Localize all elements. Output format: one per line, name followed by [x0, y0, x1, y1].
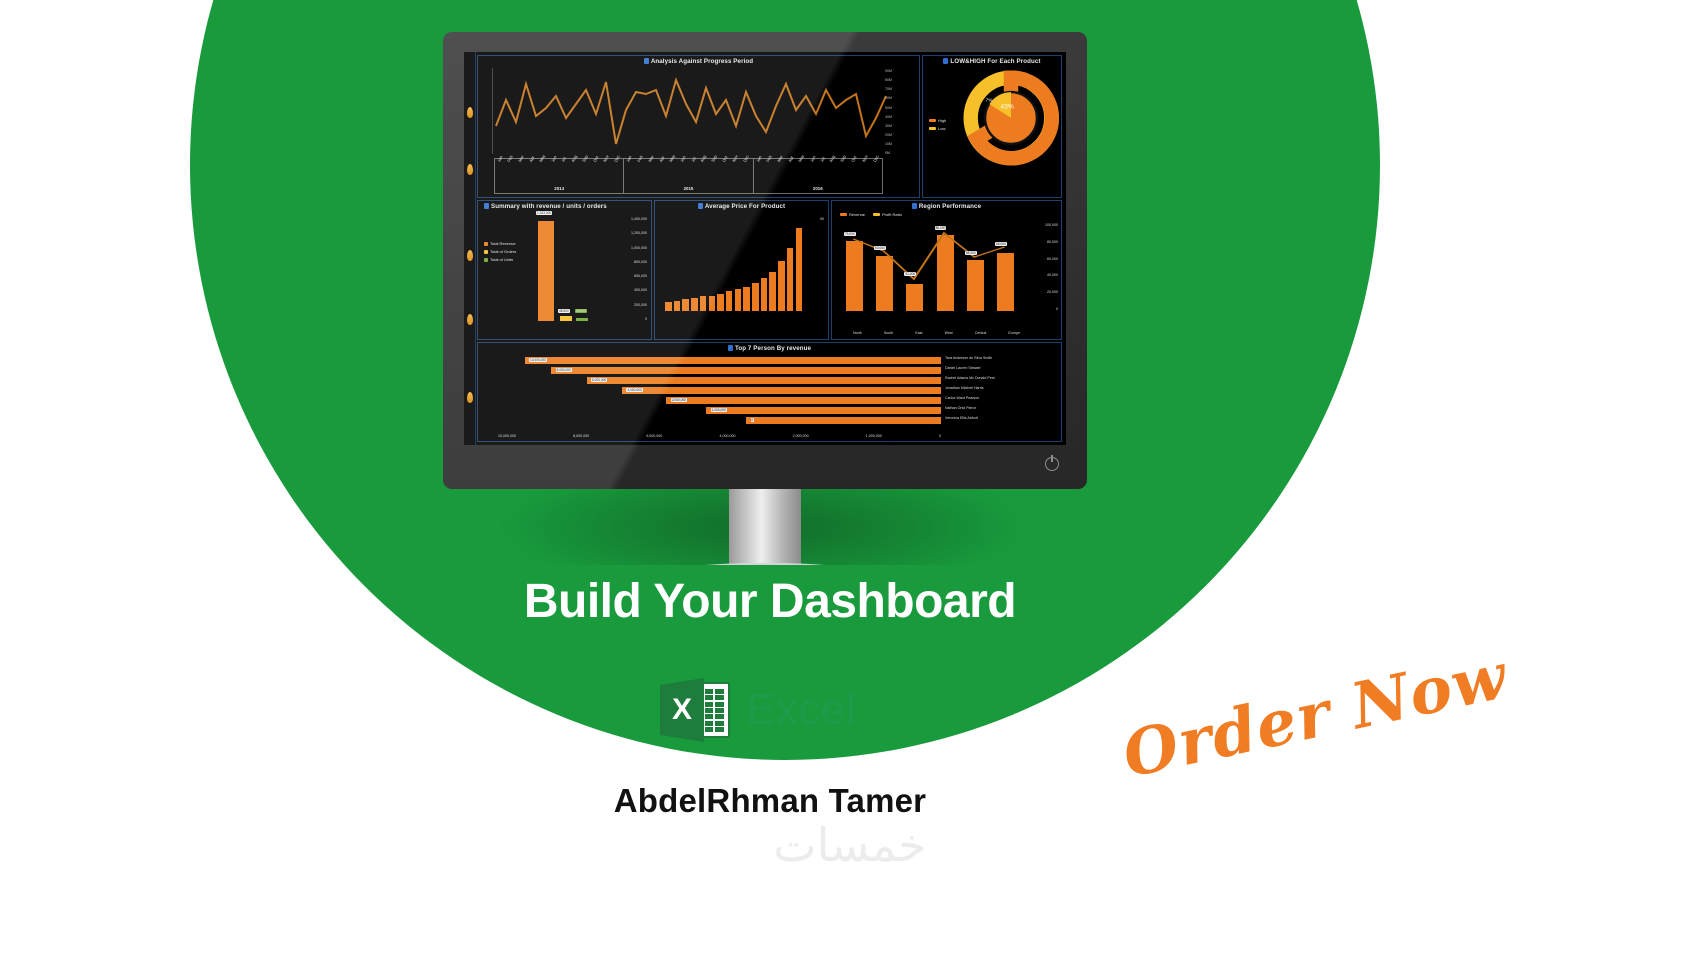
panel-top7-title-row: Top 7 Person By revenue — [478, 343, 1061, 352]
region-bars: 79,000 63,000 31,000 86,000 58,000 66,00… — [842, 223, 1031, 311]
summary-icon — [484, 203, 489, 209]
top7-bar-value: 8,000,000 — [556, 368, 572, 372]
watermark-text: خمسات — [773, 818, 926, 872]
monitor-neck — [729, 489, 801, 567]
xtick: Jan — [626, 155, 633, 163]
region-xtick: West — [945, 331, 953, 335]
panel-donut-title: LOW&HIGH For Each Product — [950, 58, 1040, 65]
legend-swatch-revenue — [840, 213, 847, 216]
top7-name: Daniel Lauren Stewart — [945, 366, 1057, 376]
legend-item: Revenue — [840, 212, 865, 217]
trend-x-ticks: Jan Feb Mar Apr May Jun Jul Aug Sep Oct … — [754, 161, 882, 181]
trend-y-ticks: 90M 80M 70M 60M 50M 40M 30M 20M 10M 0M — [885, 70, 915, 156]
panel-region-performance[interactable]: Region Performance Revenue Profit Ratio … — [831, 200, 1062, 340]
legend-item: Total Revenue — [484, 241, 516, 246]
order-now-cta[interactable]: Order Now — [1118, 622, 1513, 809]
xtick: Sep — [582, 155, 589, 163]
region-icon — [912, 203, 917, 209]
summary-bar-value: 19,000 — [575, 309, 587, 313]
top7-bar-value: 2,000,000 — [671, 398, 687, 402]
avg-bar — [726, 291, 733, 311]
avg-bar — [709, 296, 716, 311]
slicer-handle-3[interactable] — [467, 250, 473, 261]
trend-x-axis: Jan Feb Mar Apr May Jun Jul Aug Sep Oct … — [494, 158, 883, 194]
panel-summary-title: Summary with revenue / units / orders — [491, 203, 607, 210]
region-ytick: 0 — [1056, 307, 1058, 311]
xtick: Oct — [851, 155, 857, 162]
xtick: Jul — [820, 156, 826, 162]
trend-ytick: 80M — [885, 79, 892, 83]
summary-bar-revenue — [538, 221, 554, 321]
region-bar-value: 58,000 — [965, 251, 977, 255]
summary-ytick: 400,000 — [634, 288, 647, 292]
avg-bar — [778, 261, 785, 311]
trend-x-group-label: 2015 — [624, 186, 752, 191]
trend-line-series — [494, 70, 894, 154]
trend-x-group: Jan Feb Mar Apr May Jun Jul Aug Sep Oct … — [495, 159, 624, 193]
legend-item: Profit Ratio — [873, 212, 902, 217]
top7-bar — [666, 397, 941, 404]
top7-names: Tara Anderson de Silva Smith Daniel Laur… — [945, 356, 1057, 426]
avg-bar — [691, 298, 698, 311]
region-bar-value: 66,000 — [995, 242, 1007, 246]
donut-chart-icon — [943, 58, 948, 64]
summary-legend: Total Revenue Total of Orders Total of U… — [484, 241, 516, 265]
svg-text:7%: 7% — [985, 98, 993, 104]
avg-bar — [735, 289, 742, 311]
dashboard-screen: Analysis Against Progress Period 90M 80M… — [464, 52, 1066, 445]
power-icon[interactable] — [1045, 457, 1059, 471]
trend-x-ticks: Jan Feb Mar Apr May Jun Jul Aug Sep Oct … — [624, 161, 752, 181]
top7-x-axis: 10,000,000 8,000,000 6,000,000 4,000,000… — [498, 434, 941, 438]
avg-bar — [682, 299, 689, 311]
avg-y-max: 90 — [820, 217, 824, 221]
xtick: Apr — [659, 155, 665, 162]
bar-chart-icon — [698, 203, 703, 209]
xtick: Nov — [603, 155, 610, 163]
legend-item: Total of Units — [484, 257, 516, 262]
region-legend: Revenue Profit Ratio — [840, 212, 902, 217]
region-ytick: 20,000 — [1047, 290, 1058, 294]
summary-ytick: 0 — [645, 317, 647, 321]
summary-bars: 1,333,000 48,500 19,000 — [538, 217, 598, 321]
xtick: Mar — [648, 155, 655, 163]
headline-text: Build Your Dashboard — [524, 574, 1016, 629]
summary-ytick: 600,000 — [634, 274, 647, 278]
region-bar-value: 79,000 — [844, 232, 856, 236]
region-ytick: 40,000 — [1047, 273, 1058, 277]
xtick: Jul — [691, 156, 697, 162]
xtick: Aug — [571, 155, 578, 163]
summary-ytick: 800,000 — [634, 260, 647, 264]
legend-swatch-orders — [484, 250, 488, 254]
slicer-handle-5[interactable] — [467, 392, 473, 403]
legend-swatch-low — [929, 127, 936, 130]
summary-y-ticks: 1,400,000 1,200,000 1,000,000 800,000 60… — [631, 217, 647, 321]
top7-bar-value: 1,000,000 — [711, 408, 727, 412]
top7-name: Nathan Ortiz Pierce — [945, 406, 1057, 416]
region-xtick: South — [884, 331, 893, 335]
xtick: Jun — [680, 155, 687, 163]
xtick: Mar — [777, 155, 784, 163]
top7-xtick: 1,000,000 — [866, 434, 882, 438]
legend-label: Profit Ratio — [882, 212, 902, 217]
khamsat-watermark: خمسات — [0, 818, 1700, 872]
xtick: Apr — [529, 155, 535, 162]
summary-bar-value: 48,500 — [558, 309, 570, 313]
avg-bar — [796, 228, 803, 311]
trend-x-group-label: 2014 — [495, 186, 623, 191]
avg-bars — [665, 225, 810, 311]
xtick: Sep — [840, 155, 847, 163]
panel-avg-title: Average Price For Product — [705, 203, 785, 210]
panel-region-title-row: Region Performance — [832, 201, 1061, 210]
xtick: May — [798, 154, 805, 163]
legend-item: High — [929, 118, 946, 123]
legend-label: High — [938, 118, 946, 123]
region-xtick: North — [853, 331, 862, 335]
panel-trend[interactable]: Analysis Against Progress Period 90M 80M… — [477, 55, 920, 198]
trend-ytick: 20M — [885, 134, 892, 138]
top7-bars: 10,000,000 8,000,000 6,000,000 4,000,000… — [498, 357, 941, 427]
xtick: Apr — [788, 155, 794, 162]
legend-item: Total of Orders — [484, 249, 516, 254]
xtick: Jan — [497, 155, 504, 163]
xtick: May — [539, 154, 546, 163]
top7-bar — [622, 387, 941, 394]
panel-low-high[interactable]: LOW&HIGH For Each Product 43% 7% High — [922, 55, 1062, 198]
headline-banner: Build Your Dashboard — [470, 565, 1070, 637]
region-ytick: 60,000 — [1047, 257, 1058, 261]
legend-label: Low — [938, 126, 945, 131]
top7-xtick: 4,000,000 — [719, 434, 735, 438]
legend-swatch-revenue — [484, 242, 488, 246]
xtick: Mar — [518, 155, 525, 163]
summary-ytick: 1,000,000 — [631, 246, 647, 250]
xtick: Feb — [507, 155, 514, 163]
top7-xtick: 0 — [939, 434, 941, 438]
top7-bar-value: 4,000,000 — [626, 388, 642, 392]
xtick: Aug — [700, 155, 707, 163]
monitor-chin — [464, 450, 1066, 476]
legend-swatch-profit — [873, 213, 880, 216]
top7-name: Carlos Ward Pearson — [945, 396, 1057, 406]
top7-name: Tara Anderson de Silva Smith — [945, 356, 1057, 366]
top7-xtick: 2,000,000 — [793, 434, 809, 438]
top7-bar — [525, 357, 941, 364]
trend-x-group-label: 2016 — [754, 186, 882, 191]
excel-logo-letter: X — [672, 693, 692, 727]
panel-trend-title: Analysis Against Progress Period — [651, 58, 753, 65]
summary-ytick: 200,000 — [634, 303, 647, 307]
region-xtick: Europe — [1008, 331, 1020, 335]
donut-legend: High Low — [929, 118, 946, 134]
panel-summary[interactable]: Summary with revenue / units / orders 1,… — [477, 200, 652, 340]
summary-ytick: 1,200,000 — [631, 231, 647, 235]
trend-ytick: 50M — [885, 107, 892, 111]
xtick: Dec — [614, 155, 621, 163]
xtick: Sep — [711, 155, 718, 163]
xtick: Nov — [862, 155, 869, 163]
xtick: May — [669, 154, 676, 163]
slicer-handle-1[interactable] — [467, 107, 473, 118]
summary-bar-orders — [560, 316, 572, 321]
panel-region-title: Region Performance — [919, 203, 981, 210]
avg-bar — [761, 278, 768, 311]
top7-bar-value: 0 — [751, 418, 755, 422]
avg-bar — [743, 287, 750, 311]
avg-bar — [717, 294, 724, 311]
trend-x-group: Jan Feb Mar Apr May Jun Jul Aug Sep Oct … — [624, 159, 753, 193]
avg-bar — [674, 301, 681, 311]
legend-swatch-units — [484, 258, 488, 262]
slicer-handle-2[interactable] — [467, 164, 473, 175]
trend-ytick: 30M — [885, 125, 892, 129]
top7-xtick: 6,000,000 — [646, 434, 662, 438]
trend-ytick: 70M — [885, 88, 892, 92]
trend-ytick: 60M — [885, 97, 892, 101]
region-xtick: East — [915, 331, 922, 335]
slicer-strip — [464, 52, 476, 445]
xtick: Jul — [561, 156, 567, 162]
trend-ytick: 40M — [885, 116, 892, 120]
monitor: Analysis Against Progress Period 90M 80M… — [443, 32, 1087, 562]
legend-label: Revenue — [849, 212, 865, 217]
monitor-bezel: Analysis Against Progress Period 90M 80M… — [443, 32, 1087, 489]
excel-lockup: X Excel — [660, 678, 856, 742]
summary-ytick: 1,400,000 — [631, 217, 647, 221]
trend-x-ticks: Jan Feb Mar Apr May Jun Jul Aug Sep Oct … — [495, 161, 623, 181]
panel-avg-title-row: Average Price For Product — [655, 201, 828, 210]
panel-donut-title-row: LOW&HIGH For Each Product — [923, 56, 1061, 65]
summary-bar-units — [576, 318, 588, 321]
avg-bar — [769, 272, 776, 311]
legend-swatch-high — [929, 119, 936, 122]
legend-label: Total of Orders — [490, 249, 516, 254]
region-ytick: 80,000 — [1047, 240, 1058, 244]
summary-bar-value: 1,333,000 — [536, 211, 552, 215]
avg-bar — [787, 248, 794, 311]
xtick: Aug — [829, 155, 836, 163]
xtick: Dec — [743, 155, 750, 163]
top7-bar — [551, 367, 941, 374]
author-name: AbdelRhman Tamer — [0, 782, 1700, 820]
xtick: Feb — [766, 155, 773, 163]
trend-ytick: 90M — [885, 70, 892, 74]
avg-bar — [665, 302, 672, 311]
legend-label: Total of Units — [490, 257, 513, 262]
xtick: Nov — [732, 155, 739, 163]
xtick: Dec — [873, 155, 880, 163]
xtick: Oct — [722, 155, 728, 162]
excel-x-tile: X — [660, 678, 704, 742]
region-right-axis: 100,000 80,000 60,000 40,000 20,000 0 — [1045, 223, 1058, 311]
svg-text:43%: 43% — [1000, 103, 1013, 110]
slicer-handle-4[interactable] — [467, 314, 473, 325]
top7-name: Rachel Adams Mc Donald Peal — [945, 376, 1057, 386]
xtick: Jun — [551, 155, 558, 163]
region-ytick: 100,000 — [1045, 223, 1058, 227]
xtick: Jun — [810, 155, 817, 163]
region-profit-line — [842, 223, 1031, 311]
legend-item: Low — [929, 126, 946, 131]
excel-wordmark: Excel — [746, 685, 856, 735]
top7-xtick: 8,000,000 — [573, 434, 589, 438]
order-now-label: Order Now — [1116, 638, 1513, 792]
top7-name: Veronica Ellis Abbott — [945, 416, 1057, 426]
top7-name: Jonathan Mitchell Harris — [945, 386, 1057, 396]
xtick: Jan — [756, 155, 763, 163]
avg-bar — [700, 296, 707, 311]
xtick: Oct — [593, 155, 599, 162]
region-xtick: Central — [975, 331, 987, 335]
trend-ytick: 10M — [885, 143, 892, 147]
panel-top7[interactable]: Top 7 Person By revenue 10,000,000 8,000… — [477, 342, 1062, 442]
excel-logo-icon: X — [660, 678, 730, 742]
avg-bar — [752, 283, 759, 311]
panel-summary-title-row: Summary with revenue / units / orders — [478, 201, 651, 210]
panel-average-price[interactable]: Average Price For Product 90 — [654, 200, 829, 340]
panel-trend-title-row: Analysis Against Progress Period — [478, 56, 919, 65]
xtick: Feb — [637, 155, 644, 163]
legend-label: Total Revenue — [490, 241, 516, 246]
top7-bar — [746, 417, 941, 424]
region-x-ticks: North South East West Central Europe — [842, 331, 1031, 335]
panel-top7-title: Top 7 Person By revenue — [735, 345, 811, 352]
ranking-icon — [728, 345, 733, 351]
line-chart-icon — [644, 58, 649, 64]
region-bar-value: 63,000 — [874, 246, 886, 250]
trend-ytick: 0M — [885, 152, 890, 156]
top7-bar — [587, 377, 941, 384]
donut-chart: 43% 7% — [963, 70, 1059, 166]
top7-bar-value: 10,000,000 — [529, 358, 547, 362]
top7-xtick: 10,000,000 — [498, 434, 516, 438]
top7-bar — [706, 407, 941, 414]
region-bar-value: 31,000 — [904, 272, 916, 276]
trend-y-axis — [492, 68, 493, 154]
top7-bar-value: 6,000,000 — [591, 378, 607, 382]
author-name-text: AbdelRhman Tamer — [614, 782, 926, 820]
region-bar-value: 86,000 — [935, 226, 947, 230]
trend-x-group: Jan Feb Mar Apr May Jun Jul Aug Sep Oct … — [754, 159, 882, 193]
